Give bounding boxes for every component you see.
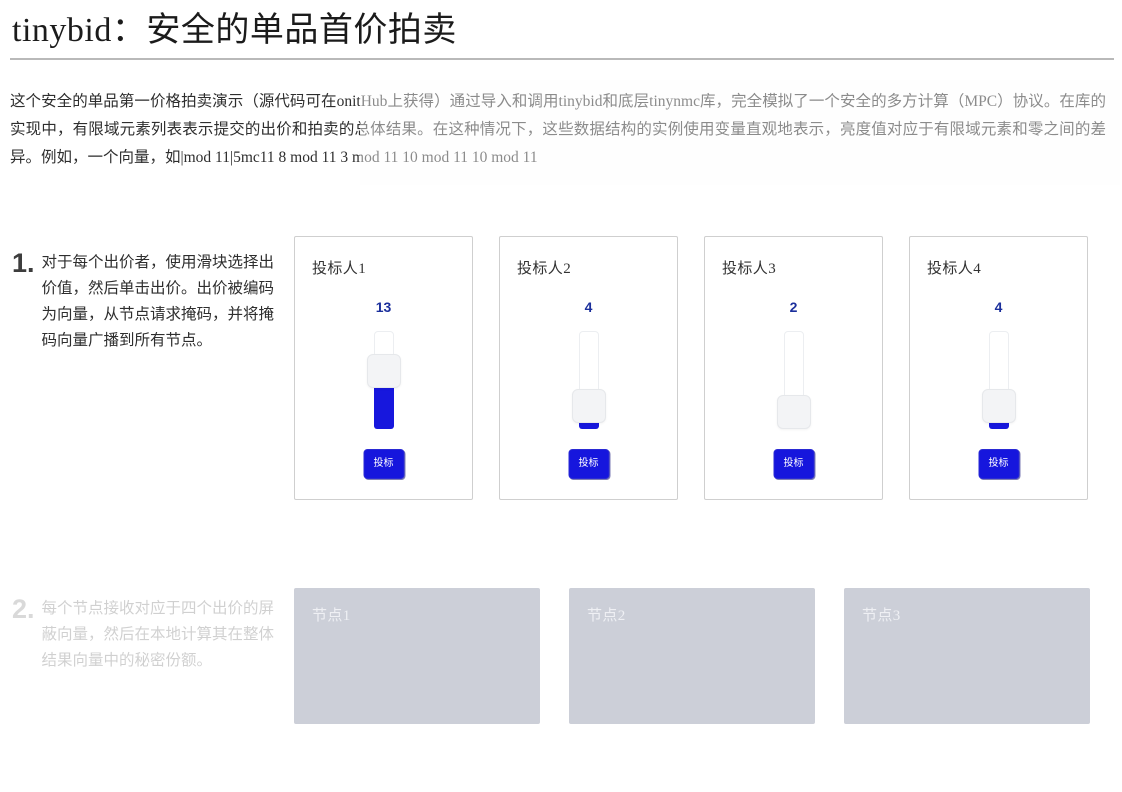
bid-slider-3[interactable] [777,331,811,429]
bidder-card-2-title: 投标人2 [517,257,571,278]
bidder-card-list: 投标人1 13 投标 投标人2 4 投标 投标人3 2 [294,236,1090,500]
step-1: 1. 对于每个出价者，使用滑块选择出价值，然后单击出价。出价被编码为向量，从节点… [12,250,278,354]
node-box-1: 节点1 [294,588,540,724]
bidder-card-1-title: 投标人1 [312,257,366,278]
bid-button-1[interactable]: 投标 [363,449,404,479]
page-title: tinybid：安全的单品首价拍卖 [0,8,1122,54]
bidder-card-4[interactable]: 投标人4 4 投标 [909,236,1088,500]
step-2-text: 每个节点接收对应于四个出价的屏蔽向量，然后在本地计算其在整体结果向量中的秘密份额… [42,596,278,674]
bidder-card-2[interactable]: 投标人2 4 投标 [499,236,678,500]
page-header: tinybid：安全的单品首价拍卖 [0,8,1122,54]
step-2-number: 2. [12,596,35,623]
bidder-card-4-title: 投标人4 [927,257,981,278]
page-root: tinybid：安全的单品首价拍卖 这个安全的单品第一价格拍卖演示（源代码可在o… [0,0,1122,792]
bid-slider-1-thumb[interactable] [367,354,401,388]
node-box-list: 节点1 节点2 节点3 [294,588,1090,724]
bid-button-3[interactable]: 投标 [773,449,814,479]
bidder-card-1[interactable]: 投标人1 13 投标 [294,236,473,500]
title-divider [10,58,1114,60]
bid-slider-3-thumb[interactable] [777,395,811,429]
node-box-3: 节点3 [844,588,1090,724]
bidder-card-3-title: 投标人3 [722,257,776,278]
intro-paragraph: 这个安全的单品第一价格拍卖演示（源代码可在onitHub上获得）通过导入和调用t… [10,88,1106,172]
bidder-card-3-value: 2 [705,299,882,315]
bidder-card-4-value: 4 [910,299,1087,315]
bid-slider-1[interactable] [367,331,401,429]
bid-slider-4-thumb[interactable] [982,389,1016,423]
node-box-2: 节点2 [569,588,815,724]
node-box-2-title: 节点2 [587,604,626,625]
node-box-3-title: 节点3 [862,604,901,625]
step-2: 2. 每个节点接收对应于四个出价的屏蔽向量，然后在本地计算其在整体结果向量中的秘… [12,596,278,674]
bid-slider-2-thumb[interactable] [572,389,606,423]
bid-slider-2[interactable] [572,331,606,429]
bidder-card-3[interactable]: 投标人3 2 投标 [704,236,883,500]
bid-slider-4[interactable] [982,331,1016,429]
step-1-text: 对于每个出价者，使用滑块选择出价值，然后单击出价。出价被编码为向量，从节点请求掩… [42,250,278,354]
bid-button-2[interactable]: 投标 [568,449,609,479]
bidder-card-2-value: 4 [500,299,677,315]
step-1-number: 1. [12,250,35,277]
node-box-1-title: 节点1 [312,604,351,625]
bid-button-4[interactable]: 投标 [978,449,1019,479]
bidder-card-1-value: 13 [295,299,472,315]
